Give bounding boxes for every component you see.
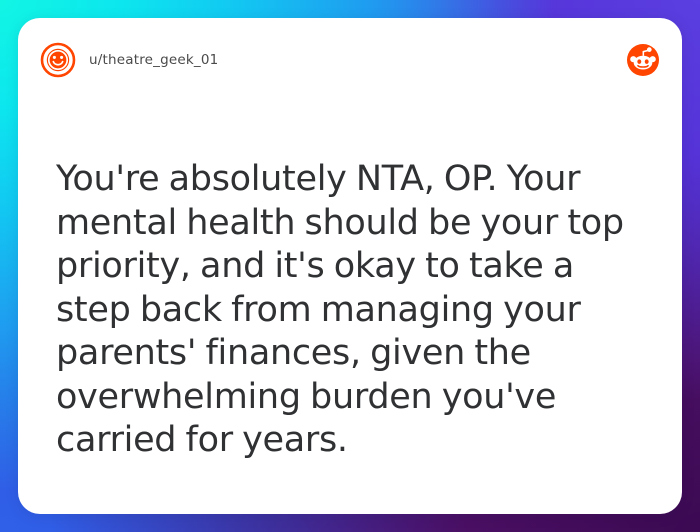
card-header: u/theatre_geek_01 bbox=[18, 18, 682, 102]
smiley-face-icon bbox=[40, 42, 76, 78]
comment-text: You're absolutely NTA, OP. Your mental h… bbox=[56, 158, 656, 463]
username-label: u/theatre_geek_01 bbox=[89, 52, 218, 68]
reddit-logo[interactable] bbox=[626, 43, 660, 77]
screenshot-canvas: u/theatre_geek_01 bbox=[0, 0, 700, 532]
reddit-comment-card: u/theatre_geek_01 bbox=[18, 18, 682, 514]
reddit-snoo-icon bbox=[626, 43, 660, 77]
avatar[interactable] bbox=[40, 42, 76, 78]
